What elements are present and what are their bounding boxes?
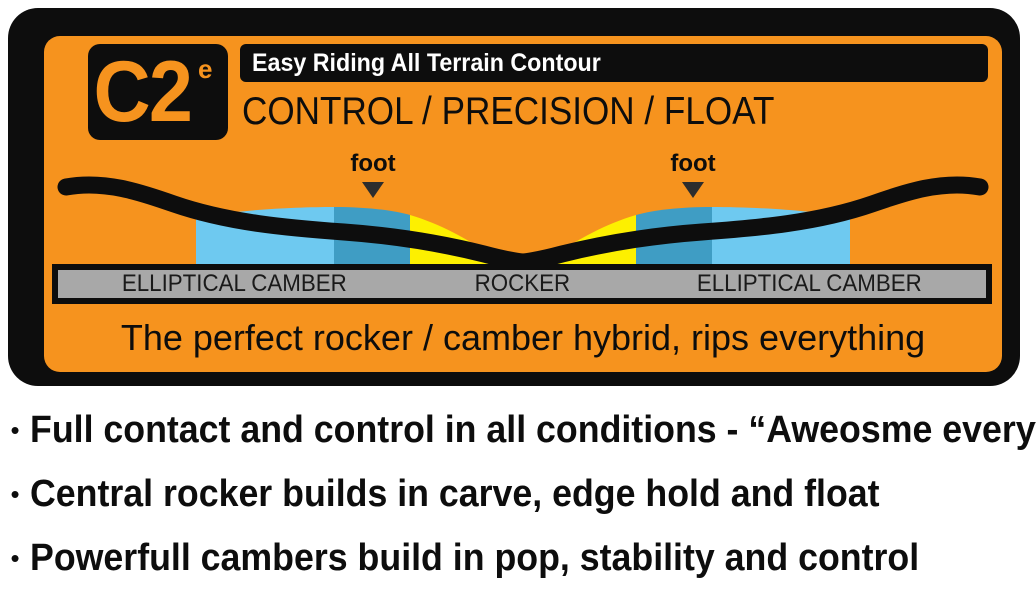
- feature-bullet-list: • Full contact and control in all condit…: [0, 398, 1036, 590]
- card-panel: C2 e Easy Riding All Terrain Contour CON…: [44, 36, 1002, 372]
- zone-bar-inner: ELLIPTICAL CAMBER ROCKER ELLIPTICAL CAMB…: [58, 270, 986, 298]
- zone-bar: ELLIPTICAL CAMBER ROCKER ELLIPTICAL CAMB…: [52, 264, 992, 304]
- logo-main-text: C2: [88, 44, 197, 140]
- list-item: • Full contact and control in all condit…: [0, 398, 1036, 462]
- bullet-text: Central rocker builds in carve, edge hol…: [30, 472, 880, 516]
- bullet-dot-icon: •: [0, 417, 30, 443]
- logo-superscript-text: e: [198, 56, 212, 82]
- subtitle: CONTROL / PRECISION / FLOAT: [242, 88, 774, 136]
- header-title: Easy Riding All Terrain Contour: [252, 44, 601, 82]
- bullet-dot-icon: •: [0, 481, 30, 507]
- tagline: The perfect rocker / camber hybrid, rips…: [44, 316, 1002, 360]
- header-bar: Easy Riding All Terrain Contour: [240, 44, 988, 82]
- infographic-root: C2 e Easy Riding All Terrain Contour CON…: [0, 0, 1036, 600]
- bullet-text: Powerfull cambers build in pop, stabilit…: [30, 536, 919, 580]
- c2e-logo-badge: C2 e: [88, 44, 228, 140]
- bullet-text: Full contact and control in all conditio…: [30, 408, 1036, 452]
- bullet-dot-icon: •: [0, 545, 30, 571]
- zone-label-right-camber: ELLIPTICAL CAMBER: [646, 270, 974, 298]
- list-item: • Powerfull cambers build in pop, stabil…: [0, 526, 1036, 590]
- card-frame: C2 e Easy Riding All Terrain Contour CON…: [8, 8, 1020, 386]
- list-item: • Central rocker builds in carve, edge h…: [0, 462, 1036, 526]
- zone-label-left-camber: ELLIPTICAL CAMBER: [70, 270, 398, 298]
- zone-label-rocker: ROCKER: [418, 270, 625, 298]
